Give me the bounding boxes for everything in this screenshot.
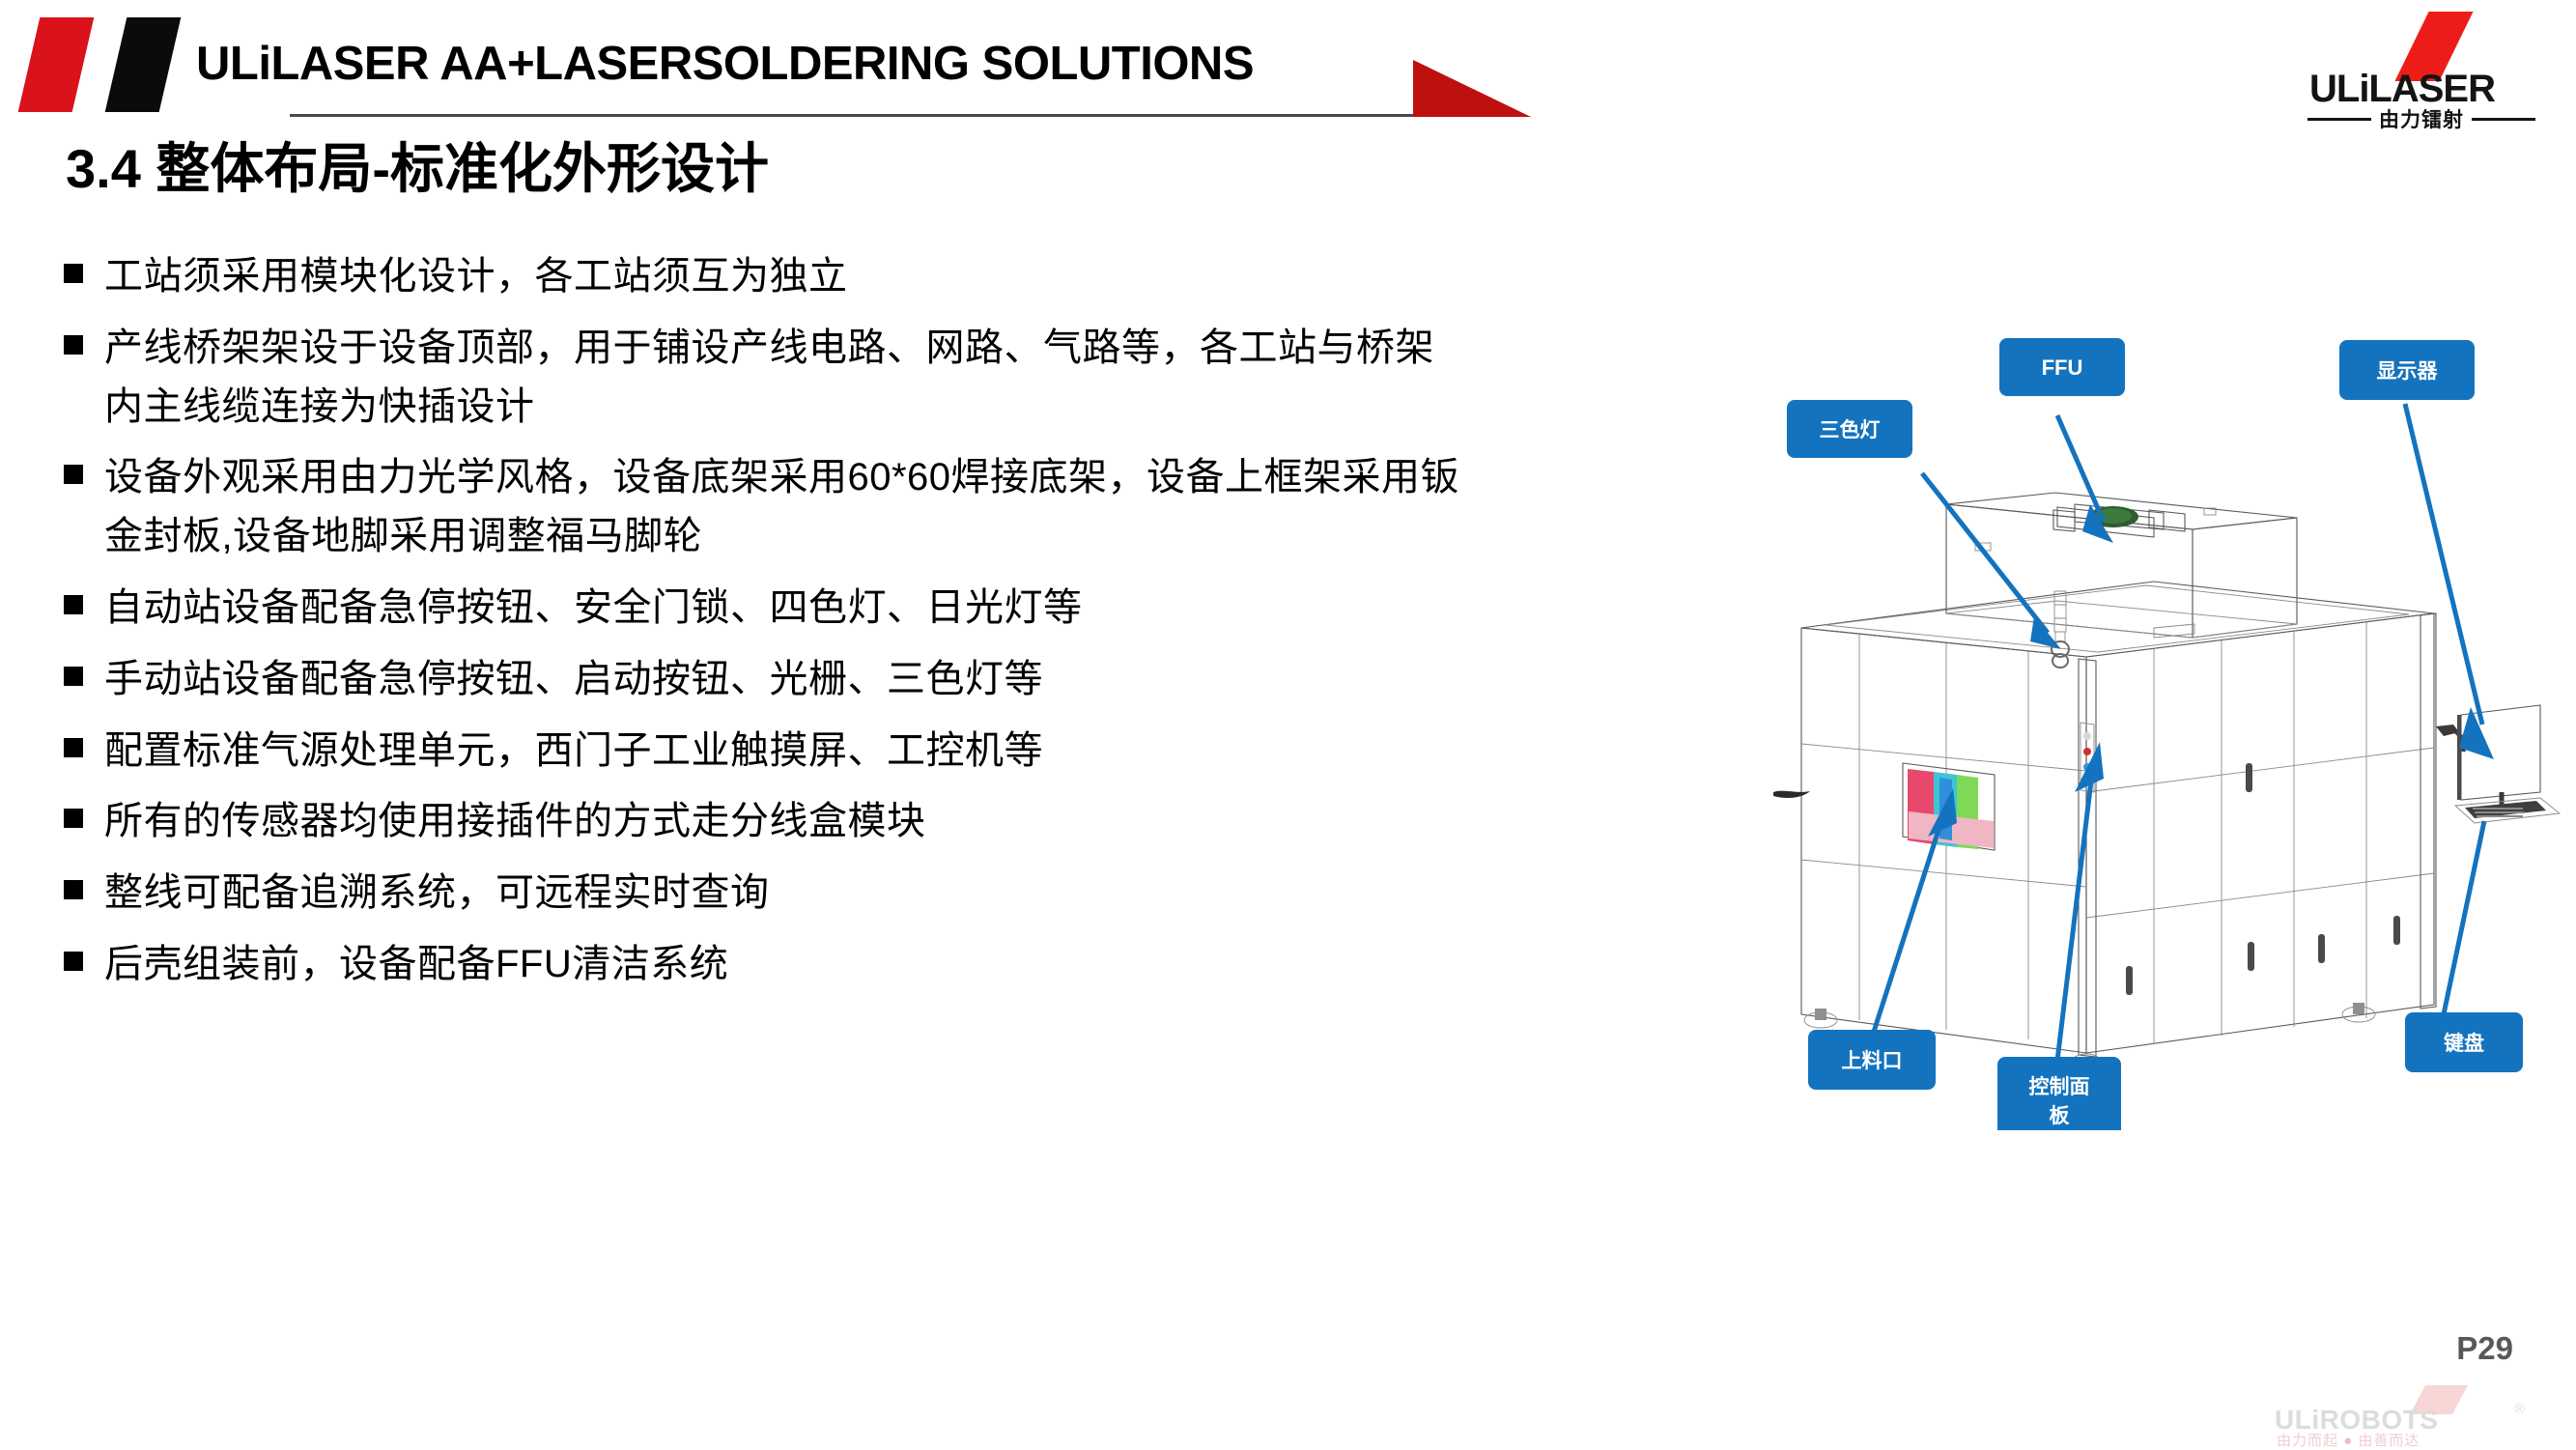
machine-left-panel (1801, 628, 2086, 1053)
list-item: 工站须采用模块化设计，各工站须互为独立 (64, 247, 1474, 306)
logo-rule-right (2472, 118, 2535, 121)
list-item-text: 工站须采用模块化设计，各工站须互为独立 (104, 247, 848, 306)
company-logo: ULiLASER 由力镭射 (2304, 10, 2535, 118)
list-item: 后壳组装前，设备配备FFU清洁系统 (64, 935, 1474, 994)
ffu-unit (1946, 493, 2297, 638)
watermark-tagline: 由力而起 ● 由善而达 (2277, 1430, 2420, 1450)
bullet-square-icon (64, 809, 83, 828)
machine-top-panel (1801, 582, 2434, 657)
callout-label-loading-port: 上料口 (1842, 1050, 1903, 1072)
tricolor-light (2052, 591, 2069, 668)
list-item: 手动站设备配备急停按钮、启动按钮、光栅、三色灯等 (64, 650, 1474, 709)
list-item-text: 设备外观采用由力光学风格，设备底架采用60*60焊接底架，设备上框架采用钣金封板… (104, 448, 1461, 566)
callout-keyboard: 键盘 (2405, 821, 2523, 1072)
bullet-square-icon (64, 595, 83, 614)
page-header: ULiLASER AA+LASERSOLDERING SOLUTIONS (0, 0, 2576, 126)
list-item-text: 手动站设备配备急停按钮、启动按钮、光栅、三色灯等 (104, 650, 1043, 709)
callout-label-tricolor: 三色灯 (1820, 418, 1881, 441)
list-item-text: 产线桥架架设于设备顶部，用于铺设产线电路、网路、气路等，各工站与桥架内主线缆连接… (104, 319, 1461, 437)
bullet-square-icon (64, 667, 83, 686)
logo-subtitle-text: 由力镭射 (2379, 104, 2464, 133)
watermark-tagline-left: 由力而起 (2277, 1433, 2338, 1449)
list-item-text: 整线可配备追溯系统，可远程实时查询 (104, 864, 770, 923)
list-item-text: 自动站设备配备急停按钮、安全门锁、四色灯、日光灯等 (104, 579, 1083, 638)
bullet-square-icon (64, 335, 83, 355)
header-black-bar (105, 17, 182, 112)
cable-detail (1773, 791, 1810, 798)
callout-display: 显示器 (2339, 340, 2494, 759)
header-red-bar (18, 17, 95, 112)
watermark: ULiROBOTS ® 由力而起 ● 由善而达 (2265, 1383, 2555, 1443)
bullet-square-icon (64, 738, 83, 757)
callout-control-panel: 控制面 板 (1997, 742, 2121, 1130)
page-number: P29 (2456, 1330, 2513, 1367)
list-item-text: 所有的传感器均使用接插件的方式走分线盒模块 (104, 792, 926, 851)
watermark-tagline-right: 由善而达 (2358, 1433, 2420, 1449)
watermark-registered-mark: ® (2514, 1401, 2525, 1417)
list-item: 产线桥架架设于设备顶部，用于铺设产线电路、网路、气路等，各工站与桥架内主线缆连接… (64, 319, 1474, 437)
bullet-square-icon (64, 952, 83, 971)
callout-label-ffu: FFU (2042, 355, 2083, 380)
machine-diagram: .mline { stroke:#5a5a5a; stroke-width:1.… (1768, 338, 2569, 1130)
header-red-triangle (1413, 60, 1531, 117)
list-item: 整线可配备追溯系统，可远程实时查询 (64, 864, 1474, 923)
monitor-and-keyboard (2436, 705, 2560, 823)
bullet-square-icon (64, 880, 83, 899)
logo-rule-left (2307, 118, 2371, 121)
page-title: 3.4 整体布局-标准化外形设计 (66, 126, 769, 204)
header-underline (290, 114, 1430, 117)
callout-label-control-panel-line1: 控制面 (2029, 1075, 2090, 1098)
list-item: 设备外观采用由力光学风格，设备底架采用60*60焊接底架，设备上框架采用钣金封板… (64, 448, 1474, 566)
callout-label-display: 显示器 (2377, 360, 2439, 383)
logo-subtitle: 由力镭射 (2307, 104, 2535, 133)
list-item: 配置标准气源处理单元，西门子工业触摸屏、工控机等 (64, 722, 1474, 781)
watermark-tagline-dot: ● (2343, 1433, 2353, 1449)
list-item: 所有的传感器均使用接插件的方式走分线盒模块 (64, 792, 1474, 851)
callout-label-control-panel-line2: 板 (2050, 1105, 2071, 1127)
bullet-list: 工站须采用模块化设计，各工站须互为独立 产线桥架架设于设备顶部，用于铺设产线电路… (64, 247, 1474, 1007)
machine-right-panel (2086, 613, 2434, 1053)
bullet-square-icon (64, 465, 83, 484)
list-item-text: 后壳组装前，设备配备FFU清洁系统 (104, 935, 728, 994)
callout-label-keyboard: 键盘 (2444, 1032, 2484, 1055)
header-banner-title: ULiLASER AA+LASERSOLDERING SOLUTIONS (196, 37, 1254, 91)
list-item-text: 配置标准气源处理单元，西门子工业触摸屏、工控机等 (104, 722, 1043, 781)
list-item: 自动站设备配备急停按钮、安全门锁、四色灯、日光灯等 (64, 579, 1474, 638)
bullet-square-icon (64, 264, 83, 283)
